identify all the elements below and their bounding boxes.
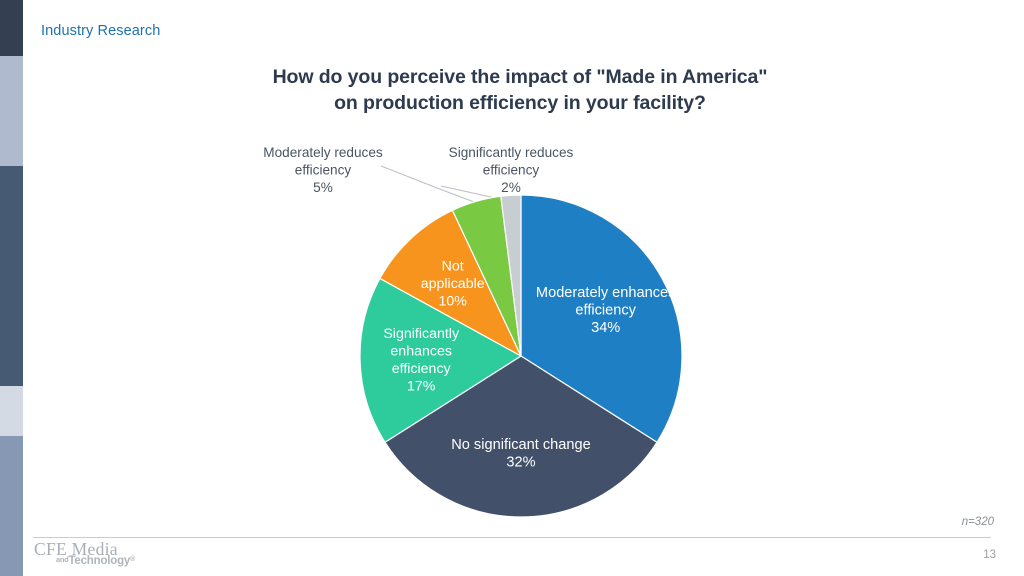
page-title: How do you perceive the impact of "Made … — [150, 65, 890, 116]
pie-outside-labels: Moderately reducesefficiency5%Significan… — [263, 145, 573, 195]
sample-size-note: n=320 — [962, 516, 994, 528]
leader-lines — [381, 166, 511, 203]
pie-outside-label: Significantly reducesefficiency2% — [449, 145, 574, 195]
leader-line — [381, 166, 477, 203]
eyebrow-label: Industry Research — [41, 23, 160, 39]
rail-segment-5 — [0, 436, 23, 576]
rail-segment-1 — [0, 0, 23, 56]
pie-slices — [360, 195, 682, 517]
left-accent-rail — [0, 0, 23, 576]
rail-segment-4 — [0, 386, 23, 436]
pie-slice[interactable] — [501, 195, 521, 356]
pie-slice-label: Moderately enhancesefficiency34% — [536, 285, 676, 336]
pie-slice-label: Significantlyenhancesefficiency17% — [383, 326, 460, 395]
rail-segment-3 — [0, 166, 23, 386]
pie-inside-labels: Moderately enhancesefficiency34%No signi… — [383, 259, 675, 471]
pie-slice[interactable] — [360, 278, 521, 442]
pie-slice[interactable] — [452, 196, 521, 356]
cfe-media-logo: CFE Media andTechnology® — [34, 541, 184, 573]
logo-and-text: and — [56, 555, 68, 564]
page-title-line-1: How do you perceive the impact of "Made … — [150, 65, 890, 91]
logo-secondary-text: andTechnology® — [56, 555, 135, 567]
page-number: 13 — [983, 549, 996, 561]
pie-slice-label: No significant change32% — [451, 437, 591, 471]
pie-slice-label: Notapplicable10% — [421, 259, 485, 310]
registered-mark-icon: ® — [130, 556, 135, 563]
pie-slice[interactable] — [521, 195, 682, 442]
rail-segment-2 — [0, 56, 23, 166]
page-title-line-2: on production efficiency in your facilit… — [150, 91, 890, 117]
pie-slice[interactable] — [385, 356, 657, 517]
leader-line — [441, 186, 511, 199]
pie-outside-label: Moderately reducesefficiency5% — [263, 145, 383, 195]
footer-divider — [33, 537, 991, 538]
logo-technology-text: Technology — [68, 555, 130, 567]
pie-slice[interactable] — [380, 210, 521, 356]
